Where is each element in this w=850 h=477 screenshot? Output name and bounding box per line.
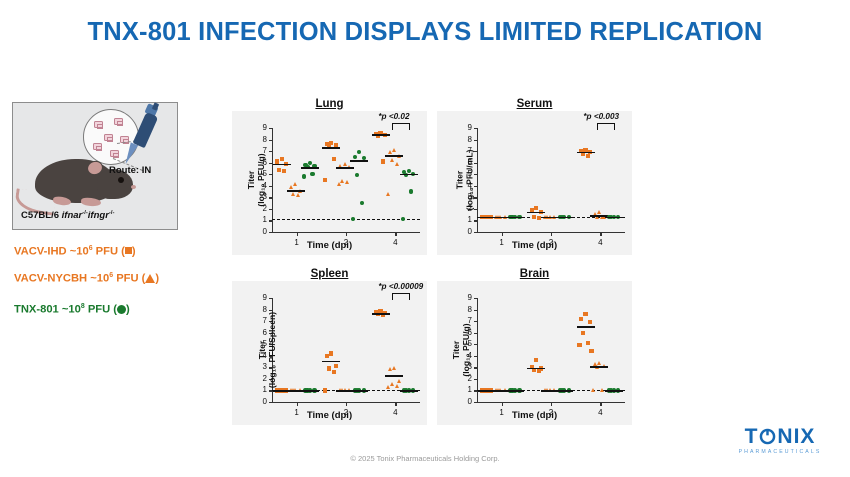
mean-bar [605,390,623,392]
chart-panel-lung: Lung0123456789124*p <0.02Titer(log₁₀ PFU… [232,98,427,258]
mouse-nose-icon [131,185,136,189]
mean-bar [605,217,623,219]
circle-marker-icon [117,305,126,314]
mean-bar [301,390,319,392]
y-axis-tick [269,232,272,233]
y-axis-tick [474,310,477,311]
data-point-square [586,154,590,158]
mean-bar [577,152,595,154]
legend-suffix: PFU ( [113,273,145,285]
data-point-square [586,341,590,345]
data-point-triangle [600,388,604,392]
data-point-triangle [395,384,399,388]
data-point-triangle [395,162,399,166]
chart-title: Serum [437,98,632,110]
legend-item-vacv-ihd: VACV-IHD ~106 PFU () [14,245,136,258]
limit-of-detection-line [272,219,420,220]
significance-bracket [392,123,410,130]
legend-close: ) [132,246,136,258]
x-axis-tick [600,232,601,236]
logo-letter-t: T [745,426,759,447]
mean-bar [301,167,319,169]
data-point-triangle [388,367,392,371]
y-axis-label-line2: (log₁₀ PFU/Spleen) [268,312,278,388]
data-point-triangle [340,179,344,183]
y-axis-tick [474,232,477,233]
mean-bar [372,134,390,136]
experiment-diagram: Route: IN C57BL/6 ifnar-/-ifngr-/- [12,102,178,230]
strain-prefix: C57BL/6 [21,210,62,221]
significance-bracket [392,293,410,300]
data-point-square [327,366,331,370]
y-axis-tick [269,402,272,403]
x-axis-tick [297,402,298,406]
y-axis-label: Titer(log₁₀ PFU/g) [247,153,267,206]
data-point-circle [351,217,355,221]
significance-bracket [597,123,615,130]
data-point-circle [357,150,361,154]
mean-bar [385,155,403,157]
data-point-square [329,351,333,355]
y-axis-tick [474,333,477,334]
y-axis-tick [269,220,272,221]
data-point-triangle [597,361,601,365]
mean-bar [400,174,418,176]
y-axis-label: Titer(log₁₀ PFU/g) [452,323,472,376]
y-axis-tick [269,163,272,164]
data-point-triangle [289,185,293,189]
data-point-circle [409,189,413,193]
data-point-circle [355,173,359,177]
data-point-triangle [392,366,396,370]
genotype-label: C57BL/6 ifnar-/-ifngr-/- [21,210,114,221]
y-axis [272,128,273,232]
mean-bar [322,147,340,149]
y-axis-tick [474,220,477,221]
data-point-circle [353,155,357,159]
y-axis-tick [269,174,272,175]
plot-area: 0123456789124*p <0.003Titer(log₁₀ PFU/mL… [437,111,632,255]
p-value-annotation: *p <0.00009 [378,282,423,291]
y-axis-tick-label: 0 [460,227,472,236]
data-point-square [334,364,338,368]
data-point-square [277,168,281,172]
legend-close: ) [126,304,130,316]
gene-ifngr-sup: -/- [109,210,115,216]
data-point-circle [360,201,364,205]
data-point-triangle [345,180,349,184]
y-axis [477,298,478,402]
mean-bar [506,217,524,219]
data-point-circle [407,169,411,173]
data-point-circle [302,174,306,178]
y-axis-label-line2: (log₁₀ PFU/g) [257,153,267,206]
mean-bar [527,212,545,214]
x-axis-tick [600,402,601,406]
legend-suffix: PFU ( [85,304,117,316]
chart-title: Brain [437,268,632,280]
data-point-square [332,157,336,161]
y-axis-tick [269,128,272,129]
data-point-triangle [388,150,392,154]
y-axis-label: Titer(log₁₀ PFU/Spleen) [258,312,278,388]
mean-bar [273,164,291,166]
mean-bar [555,390,573,392]
data-point-triangle [337,182,341,186]
chart-panel-serum: Serum0123456789124*p <0.003Titer(log₁₀ P… [437,98,632,258]
chart-panel-spleen: Spleen0123456789124*p <0.00009Titer(log₁… [232,268,427,428]
y-axis-tick [269,209,272,210]
data-point-square [589,349,593,353]
x-axis-label: Time (dpi) [437,410,632,421]
x-axis-tick [297,232,298,236]
p-value-annotation: *p <0.003 [583,112,619,121]
plot-area: 0123456789124Titer(log₁₀ PFU/g)Time (dpi… [437,281,632,425]
data-point-square [583,312,587,316]
y-axis-tick-label: 8 [255,135,267,144]
data-point-square [534,358,538,362]
data-point-circle [401,217,405,221]
logo-wordmark: T NIX [732,426,828,447]
y-axis-tick [269,151,272,152]
y-axis-tick-label: 0 [255,227,267,236]
x-axis-tick [346,232,347,236]
x-axis-label: Time (dpi) [232,410,427,421]
mean-bar [336,167,354,169]
y-axis-tick-label: 8 [460,135,472,144]
data-point-square [381,159,385,163]
data-point-square [282,169,286,173]
y-axis-tick-label: 1 [255,215,267,224]
data-point-square [325,354,329,358]
x-axis-tick [502,402,503,406]
mean-bar [350,160,368,162]
y-axis-tick [269,186,272,187]
data-point-square [579,317,583,321]
data-point-triangle [397,379,401,383]
mean-bar [287,190,305,192]
mean-bar [385,375,403,377]
page-title: TNX-801 INFECTION DISPLAYS LIMITED REPLI… [0,18,850,47]
mean-bar [527,368,545,370]
y-axis-tick-label: 9 [255,293,267,302]
chart-title: Spleen [232,268,427,280]
y-axis-tick [269,298,272,299]
data-point-triangle [392,148,396,152]
y-axis-tick [269,197,272,198]
data-point-triangle [291,192,295,196]
y-axis-tick [474,128,477,129]
y-axis-tick-label: 1 [460,215,472,224]
chart-title: Lung [232,98,427,110]
y-axis-tick [474,344,477,345]
mouse-eye-icon [118,177,124,183]
data-point-triangle [386,192,390,196]
data-point-square [588,320,592,324]
y-axis-tick-label: 0 [460,397,472,406]
data-point-square [532,215,536,219]
y-axis-tick [474,356,477,357]
route-label: Route: IN [109,165,151,176]
y-axis-label: Titer(log₁₀ PFU/mL) [456,150,476,211]
data-point-triangle [390,158,394,162]
y-axis-tick-label: 0 [255,397,267,406]
data-point-square [332,370,336,374]
y-axis-tick [474,402,477,403]
y-axis-tick [474,321,477,322]
data-point-square [323,388,327,392]
tonix-logo: T NIX PHARMACEUTICALS [732,426,828,455]
x-axis-label: Time (dpi) [437,240,632,251]
mean-bar [506,390,524,392]
x-axis-tick [395,232,396,236]
triangle-marker-icon [145,274,155,283]
logo-subtitle: PHARMACEUTICALS [732,449,828,455]
x-axis-tick [346,402,347,406]
power-o-icon [759,428,776,445]
copyright-notice: © 2025 Tonix Pharmaceuticals Holding Cor… [0,454,850,463]
legend-label: VACV-IHD ~10 [14,246,89,258]
gene-ifngr: ifngr [88,210,109,221]
data-point-square [280,157,284,161]
x-axis-tick [395,402,396,406]
data-point-square [577,343,581,347]
legend-suffix: PFU ( [93,246,125,258]
y-axis-tick-label: 9 [460,123,472,132]
data-point-triangle [591,388,595,392]
p-value-annotation: *p <0.02 [378,112,409,121]
data-point-triangle [293,182,297,186]
data-point-triangle [386,385,390,389]
data-point-triangle [296,193,300,197]
data-point-triangle [343,162,347,166]
legend-close: ) [155,273,159,285]
data-point-circle [310,172,314,176]
gene-ifnar: ifnar [62,210,83,221]
y-axis-tick-label: 9 [255,123,267,132]
y-axis-label-line2: (log₁₀ PFU/g) [462,323,472,376]
data-point-triangle [390,382,394,386]
mean-bar [555,217,573,219]
y-axis-tick-label: 8 [460,305,472,314]
x-axis-label: Time (dpi) [232,240,427,251]
pipette-plunger-icon [152,102,159,110]
legend-item-vacv-nycbh: VACV-NYCBH ~106 PFU () [14,272,159,285]
y-axis-tick [269,310,272,311]
y-axis-label-line2: (log₁₀ PFU/mL) [465,150,475,211]
square-marker-icon [125,247,132,254]
chart-panel-brain: Brain0123456789124Titer(log₁₀ PFU/g)Time… [437,268,632,428]
y-axis-tick [474,367,477,368]
y-axis-tick [474,379,477,380]
legend-label: VACV-NYCBH ~10 [14,273,109,285]
mean-bar [350,390,368,392]
data-point-square [534,206,538,210]
y-axis-tick [474,140,477,141]
x-axis-tick [502,232,503,236]
plot-area: 0123456789124*p <0.00009Titer(log₁₀ PFU/… [232,281,427,425]
mean-bar [400,390,418,392]
plot-area: 0123456789124*p <0.02Titer(log₁₀ PFU/g)T… [232,111,427,255]
legend-item-tnx-801: TNX-801 ~108 PFU () [14,303,130,316]
x-axis-tick [551,232,552,236]
data-point-triangle [597,210,601,214]
data-point-square [581,331,585,335]
mean-bar [322,361,340,363]
y-axis-tick-label: 9 [460,293,472,302]
y-axis-tick [269,140,272,141]
data-point-square [323,178,327,182]
mean-bar [590,366,608,368]
y-axis-tick-label: 1 [460,385,472,394]
y-axis-tick [474,298,477,299]
x-axis-tick [551,402,552,406]
logo-letters-nix: NIX [777,426,815,447]
legend-label: TNX-801 ~10 [14,304,81,316]
mean-bar [372,313,390,315]
mean-bar [577,326,595,328]
